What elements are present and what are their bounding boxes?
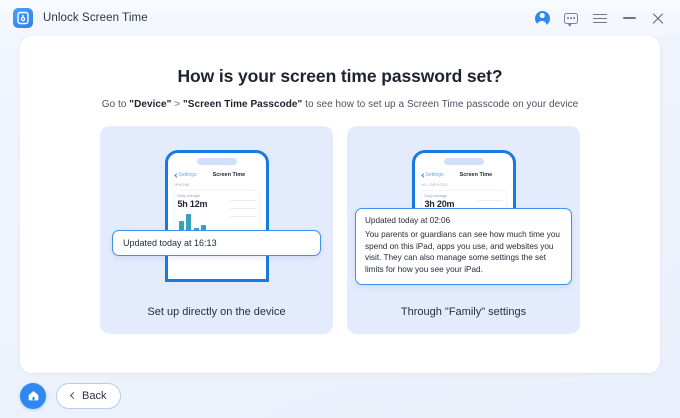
phone-back-button: Settings: [422, 172, 444, 178]
back-button-label: Back: [82, 390, 106, 402]
phone-back-label: Settings: [426, 172, 444, 178]
page-subtitle: Go to "Device" > "Screen Time Passcode" …: [20, 99, 660, 110]
phone-screen-title: Screen Time: [460, 172, 493, 178]
phone-back-label: Settings: [179, 172, 197, 178]
option-cards: Settings Screen Time IPHONE Daily Averag…: [20, 126, 660, 334]
tooltip-line-1: Updated today at 02:06: [365, 216, 562, 225]
tooltip-line-1: Updated today at 16:13: [123, 238, 310, 248]
phone-notch: [197, 158, 237, 165]
subtitle-suffix: to see how to set up a Screen Time passc…: [302, 99, 578, 110]
phone-back-button: Settings: [175, 172, 197, 178]
tooltip-updated-device: Updated today at 16:13: [112, 230, 321, 256]
hamburger-menu-icon[interactable]: [592, 10, 608, 26]
phone-screen-title: Screen Time: [213, 172, 246, 178]
daily-average-label: Daily Average: [425, 194, 503, 198]
chevron-left-icon: [421, 173, 425, 177]
phone-device-label: ALL DEVICES: [422, 183, 506, 187]
content-panel: How is your screen time password set? Go…: [20, 36, 660, 373]
tooltip-updated-family: Updated today at 02:06 You parents or gu…: [355, 208, 572, 285]
option-card-device[interactable]: Settings Screen Time IPHONE Daily Averag…: [100, 126, 333, 334]
option-card-family[interactable]: Settings Screen Time ALL DEVICES Daily A…: [347, 126, 580, 334]
back-button[interactable]: Back: [56, 383, 121, 409]
phone-notch: [444, 158, 484, 165]
home-button[interactable]: [20, 383, 46, 409]
app-title: Unlock Screen Time: [43, 12, 148, 24]
subtitle-separator: >: [171, 99, 183, 110]
phone-nav-bar: Settings Screen Time: [422, 172, 506, 178]
option-card-family-caption: Through "Family" settings: [347, 306, 580, 318]
close-icon[interactable]: [650, 10, 666, 26]
home-icon: [27, 389, 40, 402]
phone-device-label: IPHONE: [175, 183, 259, 187]
phone-nav-bar: Settings Screen Time: [175, 172, 259, 178]
phone-mockup-device: Settings Screen Time IPHONE Daily Averag…: [165, 150, 269, 282]
chart-gridline: [477, 200, 503, 201]
chart-gridline: [230, 208, 256, 209]
chart-gridline: [230, 200, 256, 201]
tooltip-line-2: You parents or guardians can see how muc…: [365, 229, 562, 276]
subtitle-bold-device: "Device": [129, 99, 171, 110]
account-avatar-icon[interactable]: [534, 10, 550, 26]
title-bar: Unlock Screen Time: [0, 0, 680, 36]
chevron-left-icon: [70, 392, 77, 399]
chevron-left-icon: [174, 173, 178, 177]
daily-average-label: Daily Average: [178, 194, 256, 198]
subtitle-bold-passcode: "Screen Time Passcode": [183, 99, 302, 110]
phone-screen-device: Settings Screen Time IPHONE Daily Averag…: [168, 168, 266, 279]
subtitle-prefix: Go to: [102, 99, 130, 110]
chart-gridline: [230, 216, 256, 217]
page-title: How is your screen time password set?: [20, 66, 660, 87]
footer-bar: Back: [0, 373, 680, 418]
option-card-device-caption: Set up directly on the device: [100, 306, 333, 318]
window-controls: [534, 10, 666, 26]
minimize-icon[interactable]: [621, 10, 637, 26]
chat-bubble-icon[interactable]: [563, 10, 579, 26]
app-logo-icon: [13, 8, 33, 28]
